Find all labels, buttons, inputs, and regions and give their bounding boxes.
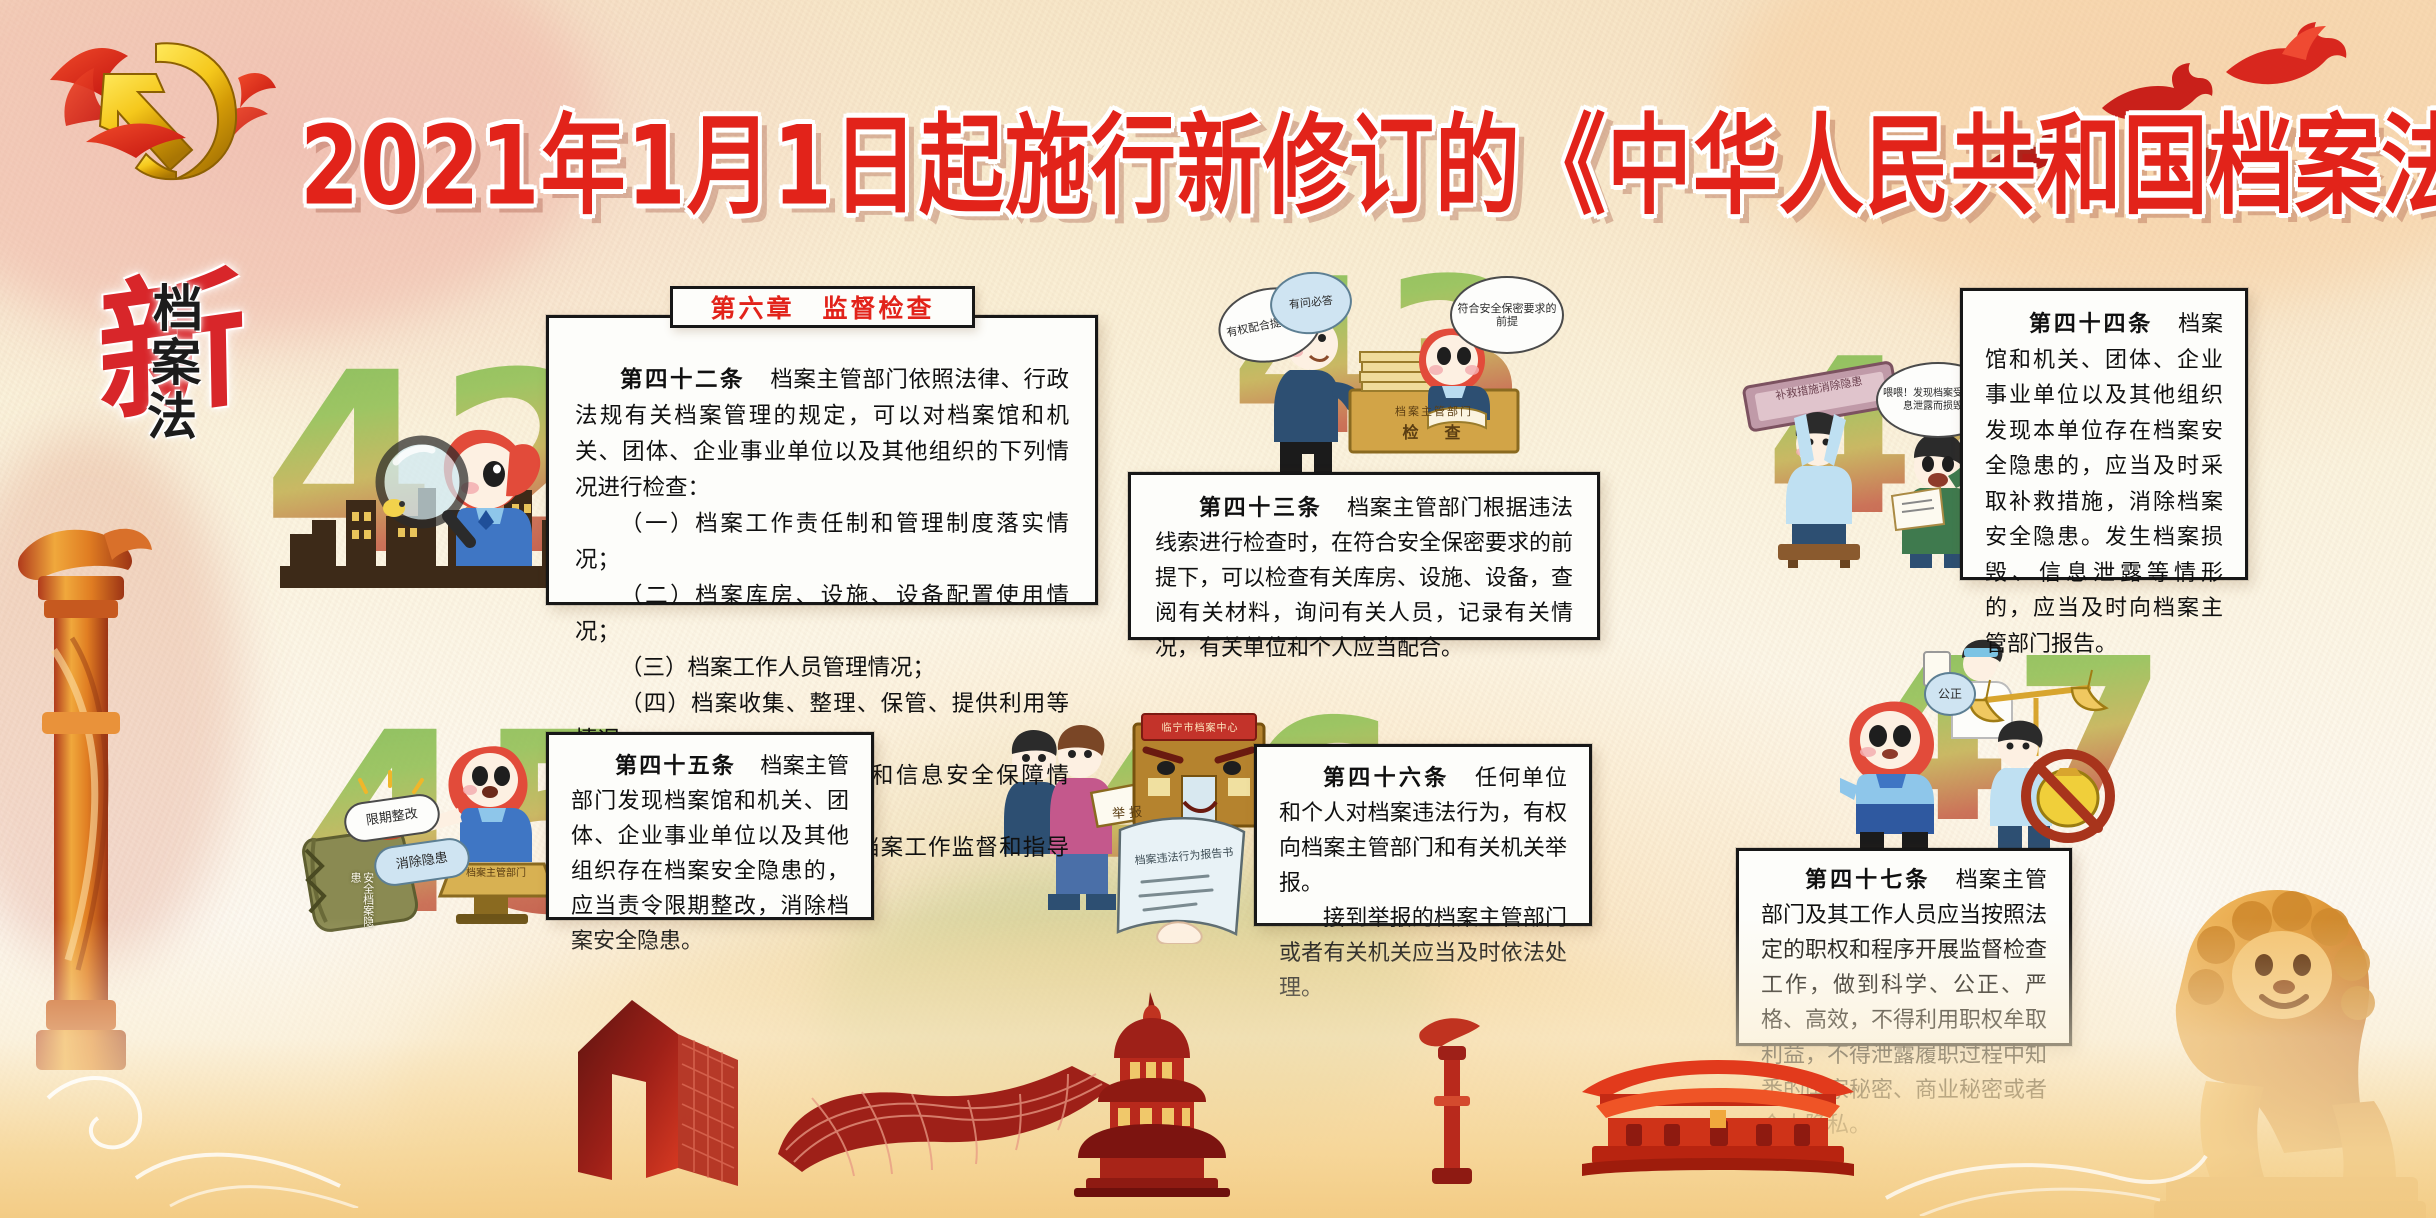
huabiao-pillar-decoration	[8, 520, 158, 1080]
article-46-body: 第四十六条任何单位和个人对档案违法行为，有权向档案主管部门和有关机关举报。 接到…	[1257, 747, 1589, 1020]
podium-sign-45-text: 档案主管部门	[466, 864, 526, 879]
banner-sign-44: 补救措施消除隐患	[1756, 362, 1882, 417]
podium-sign-45: 档案主管部门	[452, 862, 540, 880]
building-sign-46: 临宁市档案中心	[1144, 716, 1256, 736]
article-box-43: 第四十三条档案主管部门根据违法线索进行检查时，在符合安全保密要求的前提下，可以检…	[1128, 472, 1600, 640]
landmark-temple-of-heaven	[1052, 992, 1252, 1197]
article-46-para-1: 接到举报的档案主管部门或者有关机关应当及时依法处理。	[1279, 901, 1567, 1006]
article-box-46: 第四十六条任何单位和个人对档案违法行为，有权向档案主管部门和有关机关举报。 接到…	[1254, 744, 1592, 926]
article-box-44: 第四十四条档案馆和机关、团体、企业事业单位以及其他组织发现本单位存在档案安全隐患…	[1960, 288, 2248, 580]
article-47-para-0: 第四十七条档案主管部门及其工作人员应当按照法定的职权和程序开展监督检查工作，做到…	[1761, 863, 2047, 1143]
article-44-para-0: 第四十四条档案馆和机关、团体、企业事业单位以及其他组织发现本单位存在档案安全隐患…	[1985, 307, 2223, 662]
report-flag-46: 举报	[1095, 798, 1162, 825]
chapter-title-tab: 第六章 监督检查	[670, 286, 975, 328]
splash-yellow-bottom	[380, 930, 1880, 1218]
article-box-42: 第四十二条档案主管部门依照法律、行政法规有关档案管理的规定，可以对档案馆和机关、…	[546, 315, 1098, 605]
lock-label-45: 安全档案隐患	[338, 872, 384, 930]
report-doc-title-46: 档案违法行为报告书	[1127, 835, 1242, 879]
article-44-text: 档案馆和机关、团体、企业事业单位以及其他组织发现本单位存在档案安全隐患的，应当及…	[1985, 312, 2223, 657]
poster-root: 2021年1月1日起施行新修订的《中华人民共和国档案法》 新 档 案 法	[0, 0, 2436, 1218]
calligraphy-char-dang: 档	[153, 284, 203, 334]
building-sign-46-text: 临宁市档案中心	[1162, 719, 1239, 734]
article-45-body: 第四十五条档案主管部门发现档案馆和机关、团体、企业事业单位以及其他组织存在档案安…	[549, 735, 871, 973]
speech-bubble-43-right: 符合安全保密要求的前提	[1450, 276, 1564, 354]
page-title: 2021年1月1日起施行新修订的《中华人民共和国档案法》	[300, 78, 1980, 235]
desk-sign-top: 档案主管部门	[1395, 403, 1473, 419]
article-43-number: 第四十三条	[1199, 496, 1322, 521]
article-42-number: 第四十二条	[620, 367, 745, 393]
landmark-cctv-tower	[560, 990, 820, 1200]
article-45-text: 档案主管部门发现档案馆和机关、团体、企业事业单位以及其他组织存在档案安全隐患的，…	[571, 754, 849, 954]
dove-icon-1	[2222, 14, 2352, 109]
article-45-para-0: 第四十五条档案主管部门发现档案馆和机关、团体、企业事业单位以及其他组织存在档案安…	[571, 749, 849, 959]
cpc-emblem-icon	[42, 22, 282, 197]
article-42-item-1: （一）档案工作责任制和管理制度落实情况；	[575, 506, 1069, 578]
article-47-text: 档案主管部门及其工作人员应当按照法定的职权和程序开展监督检查工作，做到科学、公正…	[1761, 868, 2047, 1138]
calligraphy-char-fa: 法	[147, 392, 197, 442]
article-45-number: 第四十五条	[615, 754, 736, 779]
article-42-item-2: （二）档案库房、设施、设备配置使用情况；	[575, 578, 1069, 650]
article-43-para-0: 第四十三条档案主管部门根据违法线索进行检查时，在符合安全保密要求的前提下，可以检…	[1155, 491, 1573, 666]
badge-bubble-47: 公正	[1924, 672, 1976, 716]
desk-sign-bottom: 检 查	[1402, 419, 1465, 443]
article-46-para-0: 第四十六条任何单位和个人对档案违法行为，有权向档案主管部门和有关机关举报。	[1279, 761, 1567, 901]
article-42-para-0: 第四十二条档案主管部门依照法律、行政法规有关档案管理的规定，可以对档案馆和机关、…	[575, 362, 1069, 506]
calligraphy-logo: 新 档 案 法	[95, 268, 285, 453]
landmark-birds-nest	[772, 1058, 1162, 1188]
article-box-47: 第四十七条档案主管部门及其工作人员应当按照法定的职权和程序开展监督检查工作，做到…	[1736, 848, 2072, 1046]
article-47-number: 第四十七条	[1805, 868, 1930, 893]
poster-header: 2021年1月1日起施行新修订的《中华人民共和国档案法》	[0, 0, 2436, 215]
cloud-swirl-left	[40, 1058, 360, 1208]
calligraphy-char-an: 案	[151, 338, 201, 388]
report-doc-title-46-text: 档案违法行为报告书	[1134, 846, 1234, 868]
stone-lion-decoration	[2096, 805, 2426, 1218]
article-47-body: 第四十七条档案主管部门及其工作人员应当按照法定的职权和程序开展监督检查工作，做到…	[1739, 851, 2069, 1155]
landmark-huabiao-small	[1412, 1010, 1492, 1190]
splash-red-left	[0, 430, 240, 970]
article-46-number: 第四十六条	[1323, 766, 1450, 791]
lock-label-45-text: 安全档案隐患	[348, 872, 373, 930]
report-flag-46-text: 举报	[1111, 800, 1146, 821]
article-44-body: 第四十四条档案馆和机关、团体、企业事业单位以及其他组织发现本单位存在档案安全隐患…	[1963, 291, 2245, 678]
title-wrap: 2021年1月1日起施行新修订的《中华人民共和国档案法》	[300, 78, 1980, 188]
article-44-number: 第四十四条	[2029, 312, 2153, 337]
article-42-item-3: （三）档案工作人员管理情况；	[575, 650, 1069, 686]
desk-sign-43: 档案主管部门 检 查	[1358, 400, 1510, 446]
article-box-45: 第四十五条档案主管部门发现档案馆和机关、团体、企业事业单位以及其他组织存在档案安…	[546, 732, 874, 920]
banner-sign-44-text: 补救措施消除隐患	[1774, 375, 1863, 404]
article-43-body: 第四十三条档案主管部门根据违法线索进行检查时，在符合安全保密要求的前提下，可以检…	[1131, 475, 1597, 682]
speech-bubble-45-top: 限期整改	[342, 792, 443, 845]
